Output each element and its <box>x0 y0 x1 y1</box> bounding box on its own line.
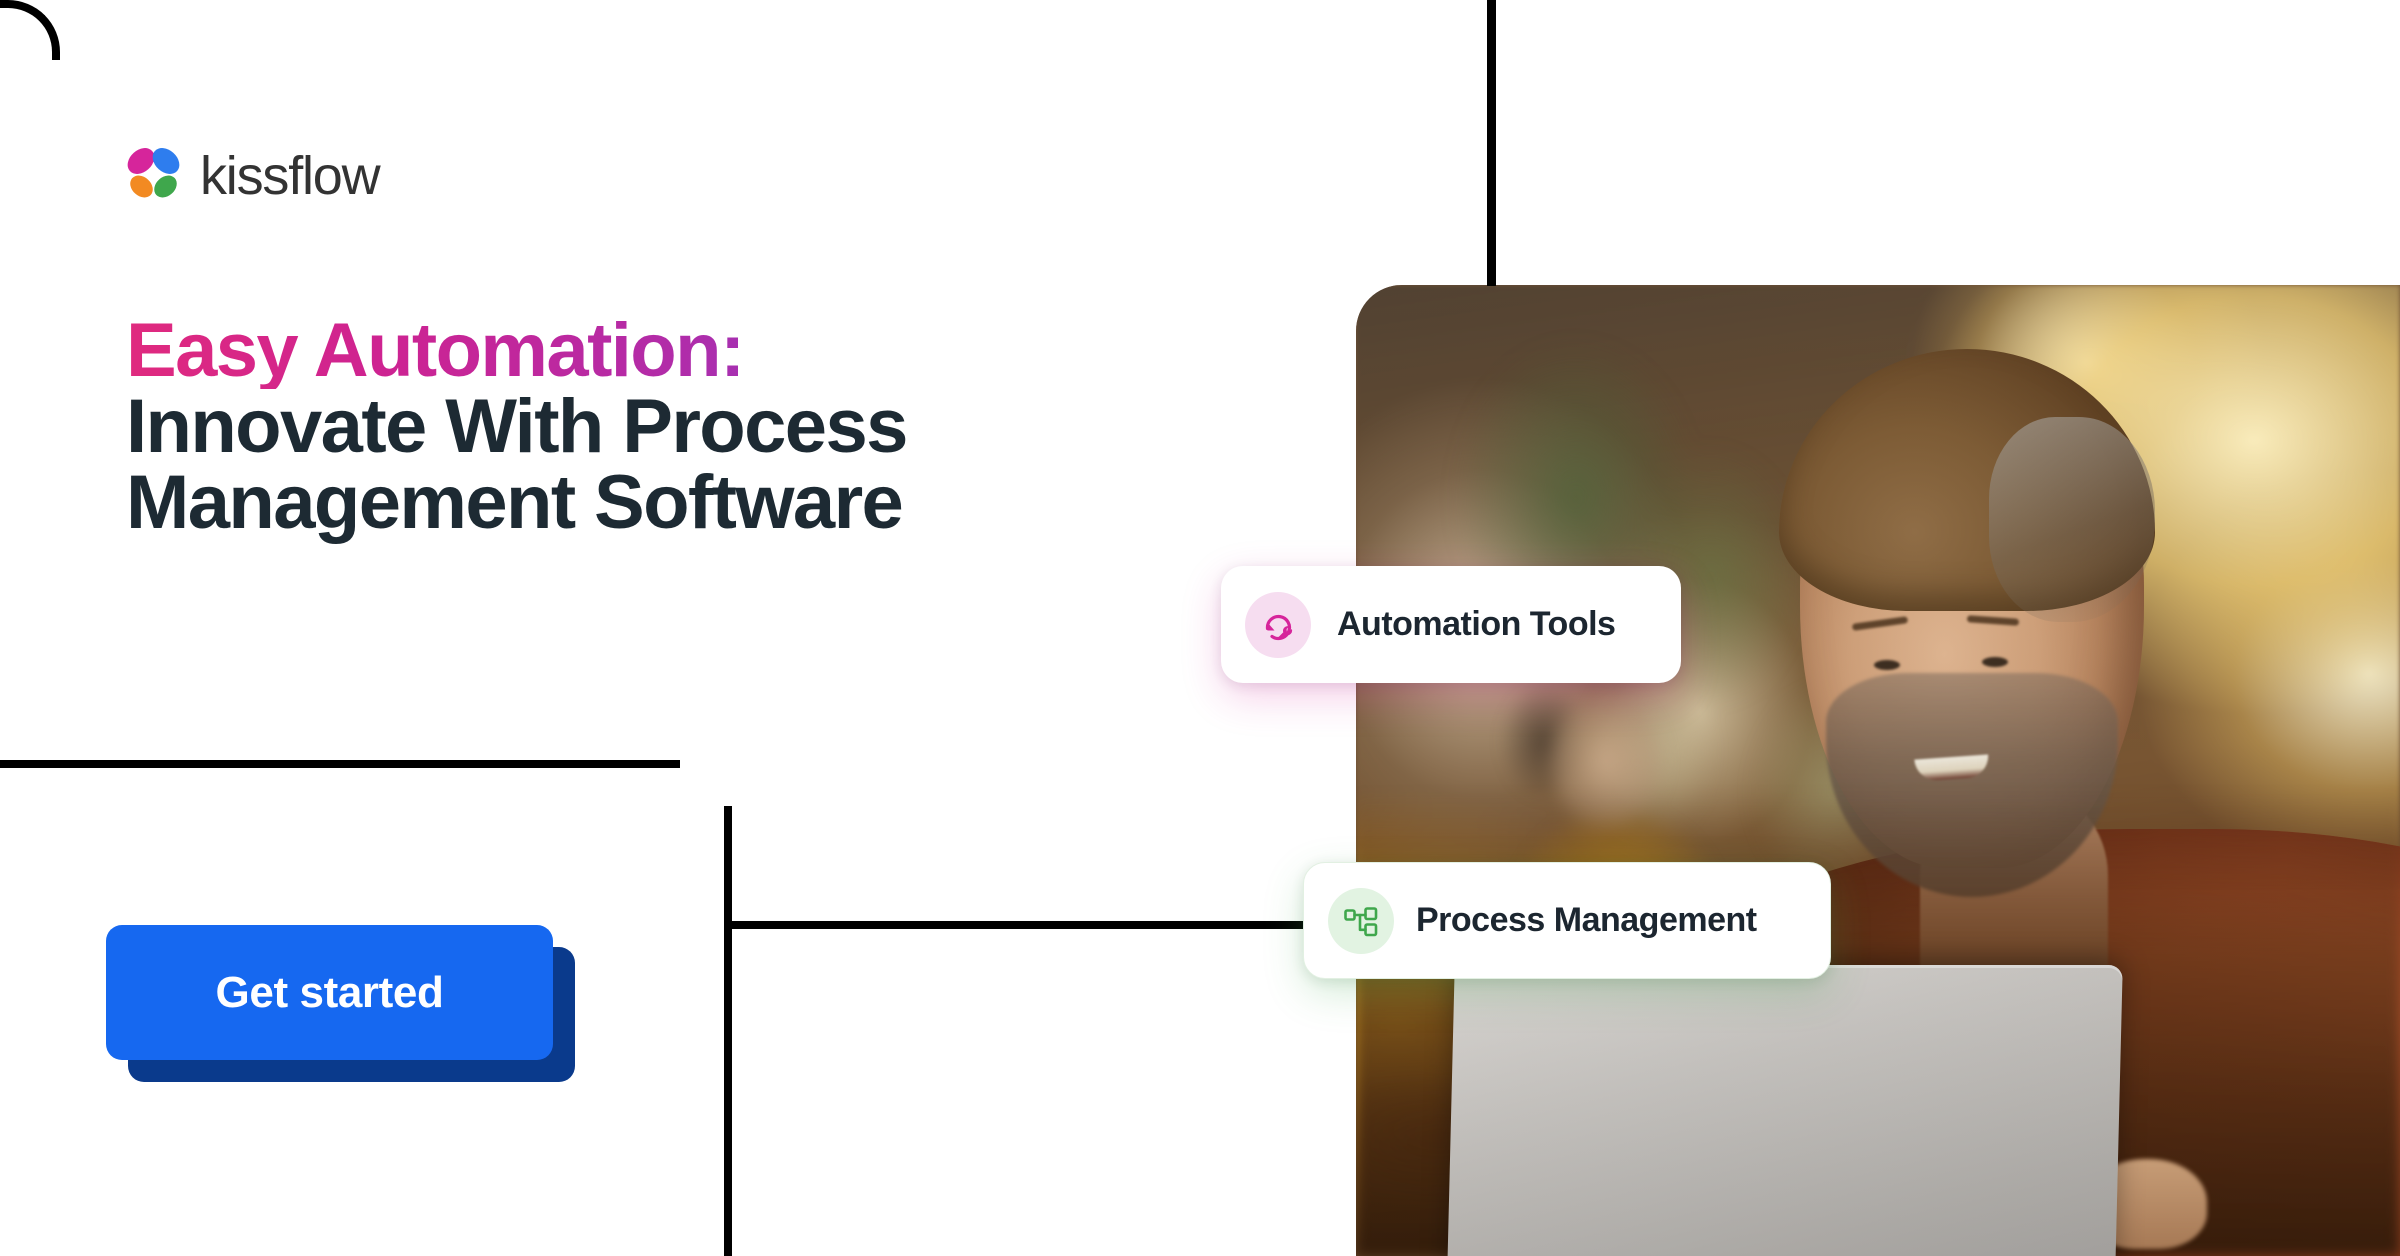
cta-area: Get started <box>106 925 566 1105</box>
logo-petal-blue-icon <box>147 143 184 179</box>
brand-wordmark: kissflow <box>200 149 379 203</box>
headline-line-2: Innovate With Process <box>126 389 1186 465</box>
badge-process-management-label: Process Management <box>1416 901 1757 940</box>
badge-process-management[interactable]: Process Management <box>1303 862 1831 979</box>
brand-logo[interactable]: kissflow <box>126 148 379 204</box>
automation-refresh-wrench-icon <box>1245 592 1311 658</box>
connector-horizontal-left <box>0 760 680 768</box>
headline-line-3: Management Software <box>126 465 1186 541</box>
connector-rounded-corner <box>0 0 60 60</box>
logo-petal-green-icon <box>150 171 181 202</box>
process-flowchart-nodes-icon <box>1328 888 1394 954</box>
headline-line-1: Easy Automation: <box>126 313 1186 389</box>
connector-vertical-top <box>1487 0 1496 286</box>
photo-tone-overlay <box>1356 285 2400 1256</box>
connector-vertical-left <box>724 806 732 1256</box>
page-title: Easy Automation: Innovate With Process M… <box>126 313 1186 541</box>
kissflow-flower-logo-icon <box>126 148 182 204</box>
get-started-button[interactable]: Get started <box>106 925 553 1060</box>
badge-automation-tools[interactable]: Automation Tools <box>1221 566 1681 683</box>
badge-automation-tools-label: Automation Tools <box>1337 605 1615 644</box>
logo-petal-orange-icon <box>126 171 157 202</box>
hero-page: kissflow Easy Automation: Innovate With … <box>0 0 2400 1256</box>
hero-image <box>1356 285 2400 1256</box>
connector-horizontal-mid <box>724 921 1304 929</box>
